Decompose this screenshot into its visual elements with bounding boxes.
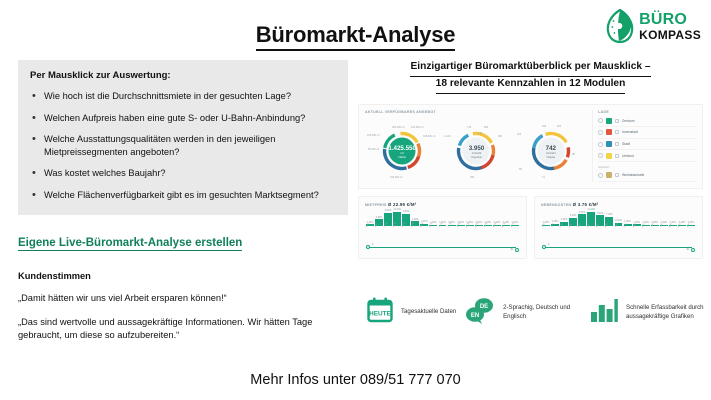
slider-handle-max[interactable] bbox=[691, 248, 695, 252]
chart-title-text: Nebenkosten bbox=[541, 203, 571, 207]
questions-heading: Per Mausklick zur Auswertung: bbox=[30, 70, 336, 81]
logo-word-kompass: KOMPASS bbox=[639, 29, 701, 41]
gauge-tick: 259 bbox=[470, 176, 475, 179]
slider-max-value: 10 bbox=[686, 248, 689, 251]
gauge-tick: 71 bbox=[542, 176, 545, 179]
feature-label: Tagesaktuelle Daten bbox=[401, 308, 456, 316]
gauge-tick: 1.120 bbox=[444, 135, 451, 138]
checkbox-icon[interactable] bbox=[615, 130, 619, 134]
create-analysis-link[interactable]: Eigene Live-Büromarkt-Analyse erstellen bbox=[18, 237, 242, 251]
slide-canvas: Büromarkt-Analyse BÜRO KOMPASS Per Mausk… bbox=[0, 0, 711, 400]
legend-label: Stadt bbox=[622, 142, 630, 146]
chart-title: Mietpreis Ø 22.99 €/m² bbox=[365, 202, 520, 207]
slider-max-value: 45 bbox=[510, 248, 513, 251]
gauge-tick: 715 bbox=[467, 126, 472, 129]
left-column: Per Mausklick zur Auswertung: Wie hoch i… bbox=[18, 60, 348, 342]
legend-title: Lage bbox=[598, 110, 696, 114]
questions-list: Wie hoch ist die Durchschnittsmiete in d… bbox=[30, 90, 336, 201]
slider-min-value: 0 bbox=[372, 243, 373, 246]
gauge-group: 260.000 m² 410.250 m² 155.300 m² 318.400… bbox=[365, 116, 588, 182]
mietpreis-chart-panel: Mietpreis Ø 22.99 €/m² 1.20%3.95%8.40%11… bbox=[358, 196, 527, 259]
compass-leaf-icon bbox=[605, 9, 635, 43]
page-title-text: Büromarkt-Analyse bbox=[256, 22, 456, 51]
list-item: Welche Ausstattungsqualitäten werden in … bbox=[30, 133, 336, 158]
gauge-tick: 98 bbox=[572, 153, 575, 156]
gauge-anzahl-objekte[interactable]: 158 204 126 98 85 71 742 Anzahl bbox=[515, 120, 587, 182]
nebenkosten-chart-panel: Nebenkosten Ø 3.75 €/m² 1.05%2.15%3.40%6… bbox=[534, 196, 703, 259]
questions-panel: Per Mausklick zur Auswertung: Wie hoch i… bbox=[18, 60, 348, 215]
legend-label: Innenstadt bbox=[622, 130, 638, 134]
bubble-badge-en: EN bbox=[471, 313, 479, 319]
list-item: Wie hoch ist die Durchschnittsmiete in d… bbox=[30, 90, 336, 103]
mietpreis-range-slider[interactable]: 0 45 bbox=[365, 243, 520, 252]
slider-min-value: 0 bbox=[548, 243, 549, 246]
lage-legend-panel: Lage Zentrum Innenstadt bbox=[592, 110, 696, 182]
slider-handle-min[interactable] bbox=[366, 245, 370, 249]
list-item[interactable]: Werksbauhalle bbox=[598, 170, 696, 182]
testimonial-quote: „Damit hätten wir uns viel Arbeit erspar… bbox=[18, 292, 348, 305]
color-swatch bbox=[606, 172, 612, 178]
mietpreis-axis: 5.007.5010.0012.5015.0017.5020.0022.5025… bbox=[365, 226, 520, 240]
speech-bubbles-icon: DE EN bbox=[464, 296, 496, 329]
contact-cta: Mehr Infos unter 089/51 777 070 bbox=[0, 372, 711, 388]
logo-word-buero: BÜRO bbox=[639, 12, 701, 28]
feature-row: HEUTE Tagesaktuelle Daten DE EN 2-Sprach… bbox=[366, 296, 704, 329]
chart-title-value: Ø 3.75 €/m² bbox=[573, 202, 599, 207]
chart-title-value: Ø 22.99 €/m² bbox=[388, 202, 417, 207]
checkbox-icon[interactable] bbox=[615, 154, 619, 158]
bar-chart-icon bbox=[589, 296, 619, 329]
testimonial-quote: „Das sind wertvolle und aussagekräftige … bbox=[18, 316, 348, 342]
legend-label: Umland bbox=[622, 154, 634, 158]
color-swatch bbox=[606, 118, 612, 124]
visibility-eye-icon[interactable] bbox=[598, 118, 603, 123]
gauge-tick: 196.400 m² bbox=[390, 176, 403, 179]
list-item[interactable]: Umland bbox=[598, 150, 696, 162]
gauge-tick: 126 bbox=[517, 133, 522, 136]
gauge-tick: 260.000 m² bbox=[392, 126, 405, 129]
color-swatch bbox=[606, 129, 612, 135]
visibility-eye-icon[interactable] bbox=[598, 153, 603, 158]
legend-label: Zentrum bbox=[622, 119, 635, 123]
list-item[interactable]: Zentrum bbox=[598, 116, 696, 128]
gauge-anzahl-angebote[interactable]: 715 864 1.120 582 410 259 3.950 Anzahl bbox=[440, 120, 512, 182]
feature-zweisprachig: DE EN 2-Sprachig, Deutsch und Englisch bbox=[464, 296, 581, 329]
gauge-tick: 410 bbox=[478, 132, 483, 135]
list-item: Welchen Aufpreis haben eine gute S- oder… bbox=[30, 112, 336, 125]
visibility-eye-icon[interactable] bbox=[598, 142, 603, 147]
color-swatch bbox=[606, 141, 612, 147]
list-item[interactable]: Innenstadt bbox=[598, 127, 696, 139]
checkbox-icon[interactable] bbox=[615, 173, 619, 177]
dashboard-heading-line1: Einzigartiger Büromarktüberblick per Mau… bbox=[410, 60, 650, 77]
checkbox-icon[interactable] bbox=[615, 119, 619, 123]
gauge-tick: 85.200 m² bbox=[368, 148, 379, 151]
logo-wordmark: BÜRO KOMPASS bbox=[639, 12, 701, 41]
chart-title: Nebenkosten Ø 3.75 €/m² bbox=[541, 202, 696, 207]
testimonials-heading: Kundenstimmen bbox=[18, 271, 348, 281]
dashboard-heading-line2: 18 relevante Kennzahlen in 12 Modulen bbox=[436, 77, 626, 94]
nebenkosten-axis: 1.001.502.002.503.003.504.004.505.005.50… bbox=[541, 226, 696, 240]
slider-track[interactable] bbox=[369, 247, 516, 248]
calendar-icon: HEUTE bbox=[366, 296, 394, 329]
feature-label: 2-Sprachig, Deutsch und Englisch bbox=[503, 304, 581, 320]
slider-handle-min[interactable] bbox=[542, 245, 546, 249]
slider-handle-max[interactable] bbox=[515, 248, 519, 252]
chart-title-text: Mietpreis bbox=[365, 203, 387, 207]
gauge-tick: 158 bbox=[542, 125, 547, 128]
list-item: Was kostet welches Baujahr? bbox=[30, 167, 336, 180]
gauge-tick: 582 bbox=[498, 135, 503, 138]
checkbox-icon[interactable] bbox=[615, 142, 619, 146]
gauge-tick: 155.300 m² bbox=[367, 134, 380, 137]
legend-label: Werksbauhalle bbox=[622, 173, 644, 177]
charts-row: Mietpreis Ø 22.99 €/m² 1.20%3.95%8.40%11… bbox=[358, 196, 703, 266]
supply-panel: Aktuell verfügbares Angebot bbox=[358, 104, 703, 189]
feature-grafiken: Schnelle Erfassbarkeit durch aussagekräf… bbox=[589, 296, 704, 329]
list-item: Welche Flächenverfügbarkeit gibt es im g… bbox=[30, 189, 336, 202]
right-column: Einzigartiger Büromarktüberblick per Mau… bbox=[358, 60, 703, 266]
supply-panel-label: Aktuell verfügbares Angebot bbox=[365, 110, 588, 114]
gauge-tick: 864 bbox=[484, 126, 489, 129]
gauge-flaeche[interactable]: 260.000 m² 410.250 m² 155.300 m² 318.400… bbox=[366, 120, 438, 182]
slider-track[interactable] bbox=[545, 247, 692, 248]
gauge-tick: 85 bbox=[519, 168, 522, 171]
gauge-tick: 204 bbox=[557, 125, 562, 128]
feature-tagesaktuelle-daten: HEUTE Tagesaktuelle Daten bbox=[366, 296, 456, 329]
brand-logo: BÜRO KOMPASS bbox=[605, 9, 701, 43]
list-item[interactable]: Stadt bbox=[598, 139, 696, 151]
feature-label: Schnelle Erfassbarkeit durch aussagekräf… bbox=[626, 304, 704, 320]
dashboard-screenshot: Aktuell verfügbares Angebot bbox=[358, 104, 703, 266]
visibility-eye-icon[interactable] bbox=[598, 173, 603, 178]
calendar-badge-text: HEUTE bbox=[369, 311, 391, 318]
legend-subtitle: Objektart bbox=[598, 165, 696, 169]
dashboard-heading: Einzigartiger Büromarktüberblick per Mau… bbox=[358, 60, 703, 94]
gauge-tick: 410.250 m² bbox=[411, 126, 424, 129]
color-swatch bbox=[606, 153, 612, 159]
nebenkosten-range-slider[interactable]: 0 10 bbox=[541, 243, 696, 252]
visibility-eye-icon[interactable] bbox=[598, 130, 603, 135]
bubble-badge-de: DE bbox=[480, 304, 488, 310]
gauge-tick: 318.400 m² bbox=[423, 135, 436, 138]
